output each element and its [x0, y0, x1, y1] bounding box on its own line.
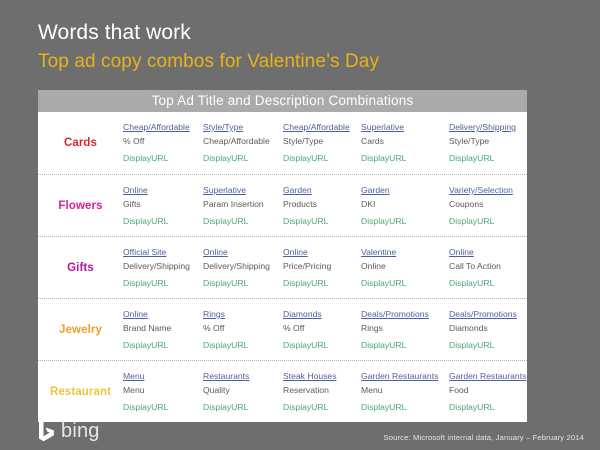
combo-title[interactable]: Steak Houses — [283, 369, 357, 383]
combo-title[interactable]: Deals/Promotions — [449, 307, 535, 321]
combo-cell: Steak Houses Reservation DisplayURL — [283, 369, 361, 414]
combo-display-url: DisplayURL — [283, 151, 357, 165]
combo-title[interactable]: Diamonds — [283, 307, 357, 321]
table-row: Cards Cheap/Affordable % Off DisplayURL … — [38, 112, 527, 174]
slide-canvas: Words that work Top ad copy combos for V… — [0, 0, 600, 450]
combo-cell: Garden DKI DisplayURL — [361, 183, 449, 228]
combo-description: Cheap/Affordable — [203, 134, 279, 148]
combo-title[interactable]: Online — [449, 245, 535, 259]
combo-description: Gifts — [123, 197, 199, 211]
row-category-cell: Gifts — [38, 237, 123, 299]
combo-cell: Garden Restaurants Food DisplayURL — [449, 369, 539, 414]
combo-title[interactable]: Style/Type — [203, 120, 279, 134]
combo-display-url: DisplayURL — [449, 400, 535, 414]
row-category-cell: Jewelry — [38, 299, 123, 361]
row-category-label: Flowers — [58, 200, 102, 212]
slide-footer: bing Source: Microsoft internal data, Ja… — [0, 415, 600, 450]
source-note: Source: Microsoft internal data, January… — [384, 433, 584, 442]
combo-display-url: DisplayURL — [203, 400, 279, 414]
row-category-label: Cards — [64, 137, 97, 149]
combo-title[interactable]: Online — [203, 245, 279, 259]
bing-logo-text: bing — [61, 418, 100, 444]
row-combos: Online Gifts DisplayURL Superlative Para… — [123, 175, 539, 228]
combo-description: Online — [361, 259, 445, 273]
row-combos: Official Site Delivery/Shipping DisplayU… — [123, 237, 539, 290]
combo-cell: Restaurants Quality DisplayURL — [203, 369, 283, 414]
combo-cell: Official Site Delivery/Shipping DisplayU… — [123, 245, 203, 290]
combo-cell: Cheap/Affordable Style/Type DisplayURL — [283, 120, 361, 165]
combo-description: Param Insertion — [203, 197, 279, 211]
combo-title[interactable]: Cheap/Affordable — [123, 120, 199, 134]
combo-display-url: DisplayURL — [449, 214, 535, 228]
combo-cell: Garden Products DisplayURL — [283, 183, 361, 228]
combo-title[interactable]: Garden Restaurants — [361, 369, 445, 383]
combo-title[interactable]: Garden Restaurants — [449, 369, 535, 383]
table-row: Flowers Online Gifts DisplayURL Superlat… — [38, 174, 527, 236]
combo-description: Style/Type — [283, 134, 357, 148]
combo-description: Call To Action — [449, 259, 535, 273]
table-row: Jewelry Online Brand Name DisplayURL Rin… — [38, 298, 527, 360]
combo-description: Menu — [361, 383, 445, 397]
combo-title[interactable]: Variety/Selection — [449, 183, 535, 197]
combo-display-url: DisplayURL — [283, 276, 357, 290]
combo-cell: Superlative Cards DisplayURL — [361, 120, 449, 165]
combo-description: % Off — [203, 321, 279, 335]
row-combos: Cheap/Affordable % Off DisplayURL Style/… — [123, 112, 539, 165]
combo-title[interactable]: Online — [283, 245, 357, 259]
table-row: Gifts Official Site Delivery/Shipping Di… — [38, 236, 527, 298]
row-category-label: Restaurant — [50, 386, 111, 398]
combo-description: % Off — [283, 321, 357, 335]
combo-title[interactable]: Official Site — [123, 245, 199, 259]
combo-cell: Valentine Online DisplayURL — [361, 245, 449, 290]
combo-display-url: DisplayURL — [361, 151, 445, 165]
combo-title[interactable]: Cheap/Affordable — [283, 120, 357, 134]
combo-display-url: DisplayURL — [283, 338, 357, 352]
combo-cell: Cheap/Affordable % Off DisplayURL — [123, 120, 203, 165]
bing-b-logo-icon — [38, 418, 55, 444]
combo-title[interactable]: Garden — [283, 183, 357, 197]
combo-display-url: DisplayURL — [361, 276, 445, 290]
combo-cell: Online Brand Name DisplayURL — [123, 307, 203, 352]
combo-title[interactable]: Superlative — [203, 183, 279, 197]
combo-description: Menu — [123, 383, 199, 397]
combo-title[interactable]: Delivery/Shipping — [449, 120, 535, 134]
combo-title[interactable]: Superlative — [361, 120, 445, 134]
combo-description: Brand Name — [123, 321, 199, 335]
bing-logo[interactable]: bing — [38, 418, 100, 444]
row-category-cell: Restaurant — [38, 361, 123, 423]
combo-display-url: DisplayURL — [123, 338, 199, 352]
combo-cell: Online Price/Pricing DisplayURL — [283, 245, 361, 290]
row-category-label: Jewelry — [59, 324, 102, 336]
combo-description: Rings — [361, 321, 445, 335]
combo-description: Products — [283, 197, 357, 211]
combo-display-url: DisplayURL — [449, 151, 535, 165]
combo-display-url: DisplayURL — [203, 151, 279, 165]
row-combos: Menu Menu DisplayURL Restaurants Quality… — [123, 361, 539, 414]
combo-display-url: DisplayURL — [283, 214, 357, 228]
combo-cell: Variety/Selection Coupons DisplayURL — [449, 183, 539, 228]
combo-cell: Deals/Promotions Diamonds DisplayURL — [449, 307, 539, 352]
combo-title[interactable]: Valentine — [361, 245, 445, 259]
combo-display-url: DisplayURL — [203, 276, 279, 290]
table-body: Cards Cheap/Affordable % Off DisplayURL … — [38, 112, 527, 422]
row-category-label: Gifts — [67, 262, 94, 274]
combo-display-url: DisplayURL — [361, 214, 445, 228]
combo-display-url: DisplayURL — [283, 400, 357, 414]
table-header-title: Top Ad Title and Description Combination… — [38, 90, 527, 112]
combo-description: Delivery/Shipping — [123, 259, 199, 273]
combo-display-url: DisplayURL — [449, 276, 535, 290]
combo-cell: Garden Restaurants Menu DisplayURL — [361, 369, 449, 414]
combo-display-url: DisplayURL — [123, 151, 199, 165]
combo-cell: Online Call To Action DisplayURL — [449, 245, 539, 290]
combo-display-url: DisplayURL — [123, 400, 199, 414]
combo-display-url: DisplayURL — [123, 214, 199, 228]
combo-description: Coupons — [449, 197, 535, 211]
row-combos: Online Brand Name DisplayURL Rings % Off… — [123, 299, 539, 352]
combo-cell: Style/Type Cheap/Affordable DisplayURL — [203, 120, 283, 165]
combo-cell: Diamonds % Off DisplayURL — [283, 307, 361, 352]
combo-display-url: DisplayURL — [449, 338, 535, 352]
combo-title[interactable]: Menu — [123, 369, 199, 383]
combo-description: Style/Type — [449, 134, 535, 148]
slide-header: Words that work Top ad copy combos for V… — [38, 20, 558, 75]
combo-title[interactable]: Online — [123, 183, 199, 197]
combo-description: Quality — [203, 383, 279, 397]
combo-title[interactable]: Restaurants — [203, 369, 279, 383]
combo-title[interactable]: Garden — [361, 183, 445, 197]
combo-description: Cards — [361, 134, 445, 148]
combo-description: Price/Pricing — [283, 259, 357, 273]
page-title: Words that work — [38, 20, 558, 46]
combo-cell: Deals/Promotions Rings DisplayURL — [361, 307, 449, 352]
combo-description: % Off — [123, 134, 199, 148]
combo-title[interactable]: Rings — [203, 307, 279, 321]
combo-display-url: DisplayURL — [123, 276, 199, 290]
combo-cell: Delivery/Shipping Style/Type DisplayURL — [449, 120, 539, 165]
page-subtitle: Top ad copy combos for Valentine’s Day — [38, 49, 558, 75]
combo-display-url: DisplayURL — [361, 400, 445, 414]
combo-title[interactable]: Online — [123, 307, 199, 321]
combo-description: DKI — [361, 197, 445, 211]
combo-description: Food — [449, 383, 535, 397]
combo-cell: Rings % Off DisplayURL — [203, 307, 283, 352]
ad-combos-panel: Top Ad Title and Description Combination… — [38, 90, 527, 422]
combo-description: Reservation — [283, 383, 357, 397]
combo-title[interactable]: Deals/Promotions — [361, 307, 445, 321]
table-row: Restaurant Menu Menu DisplayURL Restaura… — [38, 360, 527, 422]
combo-display-url: DisplayURL — [203, 214, 279, 228]
combo-cell: Online Delivery/Shipping DisplayURL — [203, 245, 283, 290]
combo-display-url: DisplayURL — [361, 338, 445, 352]
combo-description: Delivery/Shipping — [203, 259, 279, 273]
combo-description: Diamonds — [449, 321, 535, 335]
combo-cell: Online Gifts DisplayURL — [123, 183, 203, 228]
combo-cell: Superlative Param Insertion DisplayURL — [203, 183, 283, 228]
combo-cell: Menu Menu DisplayURL — [123, 369, 203, 414]
row-category-cell: Flowers — [38, 175, 123, 237]
row-category-cell: Cards — [38, 112, 123, 174]
combo-display-url: DisplayURL — [203, 338, 279, 352]
